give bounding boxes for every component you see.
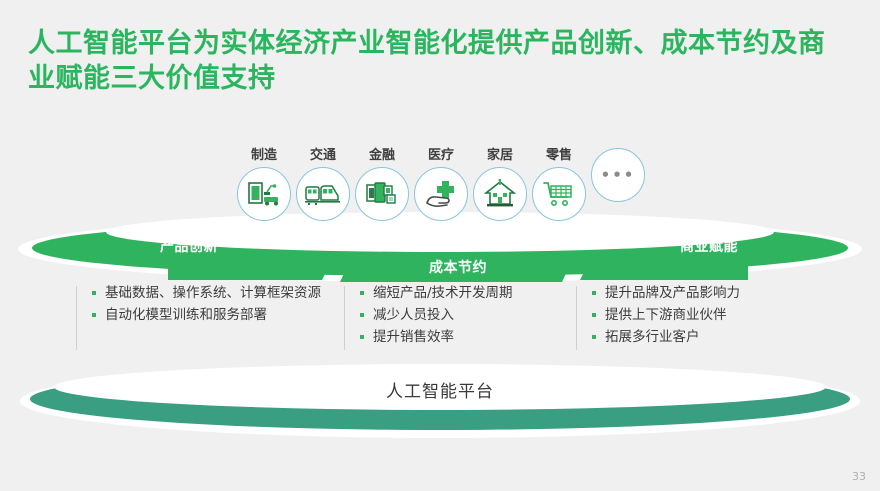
factory-robot-icon [237, 167, 291, 221]
hand-medical-cross-icon [414, 167, 468, 221]
list-item: 提供上下游商业伙伴 [592, 306, 804, 325]
industry-item-manufacturing[interactable]: 制造 [236, 144, 292, 221]
platform-label: 人工智能平台 [20, 368, 860, 410]
banknote-stack-icon [355, 167, 409, 221]
list-item: 提升品牌及产品影响力 [592, 284, 804, 303]
bullet-list: 提升品牌及产品影响力 提供上下游商业伙伴 拓展多行业客户 [592, 284, 804, 347]
bullet-list: 缩短产品/技术开发周期 减少人员投入 提升销售效率 [360, 284, 576, 347]
list-item: 基础数据、操作系统、计算框架资源 [92, 284, 344, 303]
value-ring: 产品创新 成本节约 商业赋能 [18, 212, 862, 290]
bullet-list: 基础数据、操作系统、计算框架资源 自动化模型训练和服务部署 [92, 284, 344, 325]
list-item: 减少人员投入 [360, 306, 576, 325]
benefit-column-cost-saving: 缩短产品/技术开发周期 减少人员投入 提升销售效率 [344, 284, 576, 356]
value-label-business-enablement: 商业赋能 [680, 236, 738, 256]
benefit-column-business-enablement: 提升品牌及产品影响力 提供上下游商业伙伴 拓展多行业客户 [576, 284, 804, 356]
industry-item-home[interactable]: 家居 [472, 144, 528, 221]
train-icon [296, 167, 350, 221]
industry-item-transport[interactable]: 交通 [295, 144, 351, 221]
benefit-columns: 基础数据、操作系统、计算框架资源 自动化模型训练和服务部署 缩短产品/技术开发周… [76, 284, 804, 356]
industry-label: 制造 [251, 144, 277, 163]
value-label-product-innovation: 产品创新 [160, 236, 218, 256]
industry-item-healthcare[interactable]: 医疗 [413, 144, 469, 221]
house-icon [473, 167, 527, 221]
industry-label: 家居 [487, 144, 513, 163]
ellipsis-glyph: ••• [601, 168, 636, 183]
platform-base: 人工智能平台 [20, 362, 860, 440]
list-item: 自动化模型训练和服务部署 [92, 306, 344, 325]
list-item: 缩短产品/技术开发周期 [360, 284, 576, 303]
industry-label: 交通 [310, 144, 336, 163]
shopping-cart-icon [532, 167, 586, 221]
list-item: 拓展多行业客户 [592, 328, 804, 347]
ribbon-left-tail [168, 252, 336, 280]
ellipsis-icon: ••• [591, 148, 645, 202]
industry-label: 医疗 [428, 144, 454, 163]
industry-label: 零售 [546, 144, 572, 163]
industry-item-retail[interactable]: 零售 [531, 144, 587, 221]
list-item: 提升销售效率 [360, 328, 576, 347]
ribbon-right-tail [580, 252, 748, 280]
benefit-column-product-innovation: 基础数据、操作系统、计算框架资源 自动化模型训练和服务部署 [76, 284, 344, 356]
value-label-cost-saving: 成本节约 [340, 252, 576, 282]
industry-item-finance[interactable]: 金融 [354, 144, 410, 221]
page-number: 33 [852, 470, 866, 483]
slide-canvas: 人工智能平台为实体经济产业智能化提供产品创新、成本节约及商业赋能三大价值支持 制… [0, 0, 880, 491]
page-title: 人工智能平台为实体经济产业智能化提供产品创新、成本节约及商业赋能三大价值支持 [28, 26, 848, 96]
industry-label: 金融 [369, 144, 395, 163]
industry-item-more[interactable]: ••• [590, 144, 646, 202]
